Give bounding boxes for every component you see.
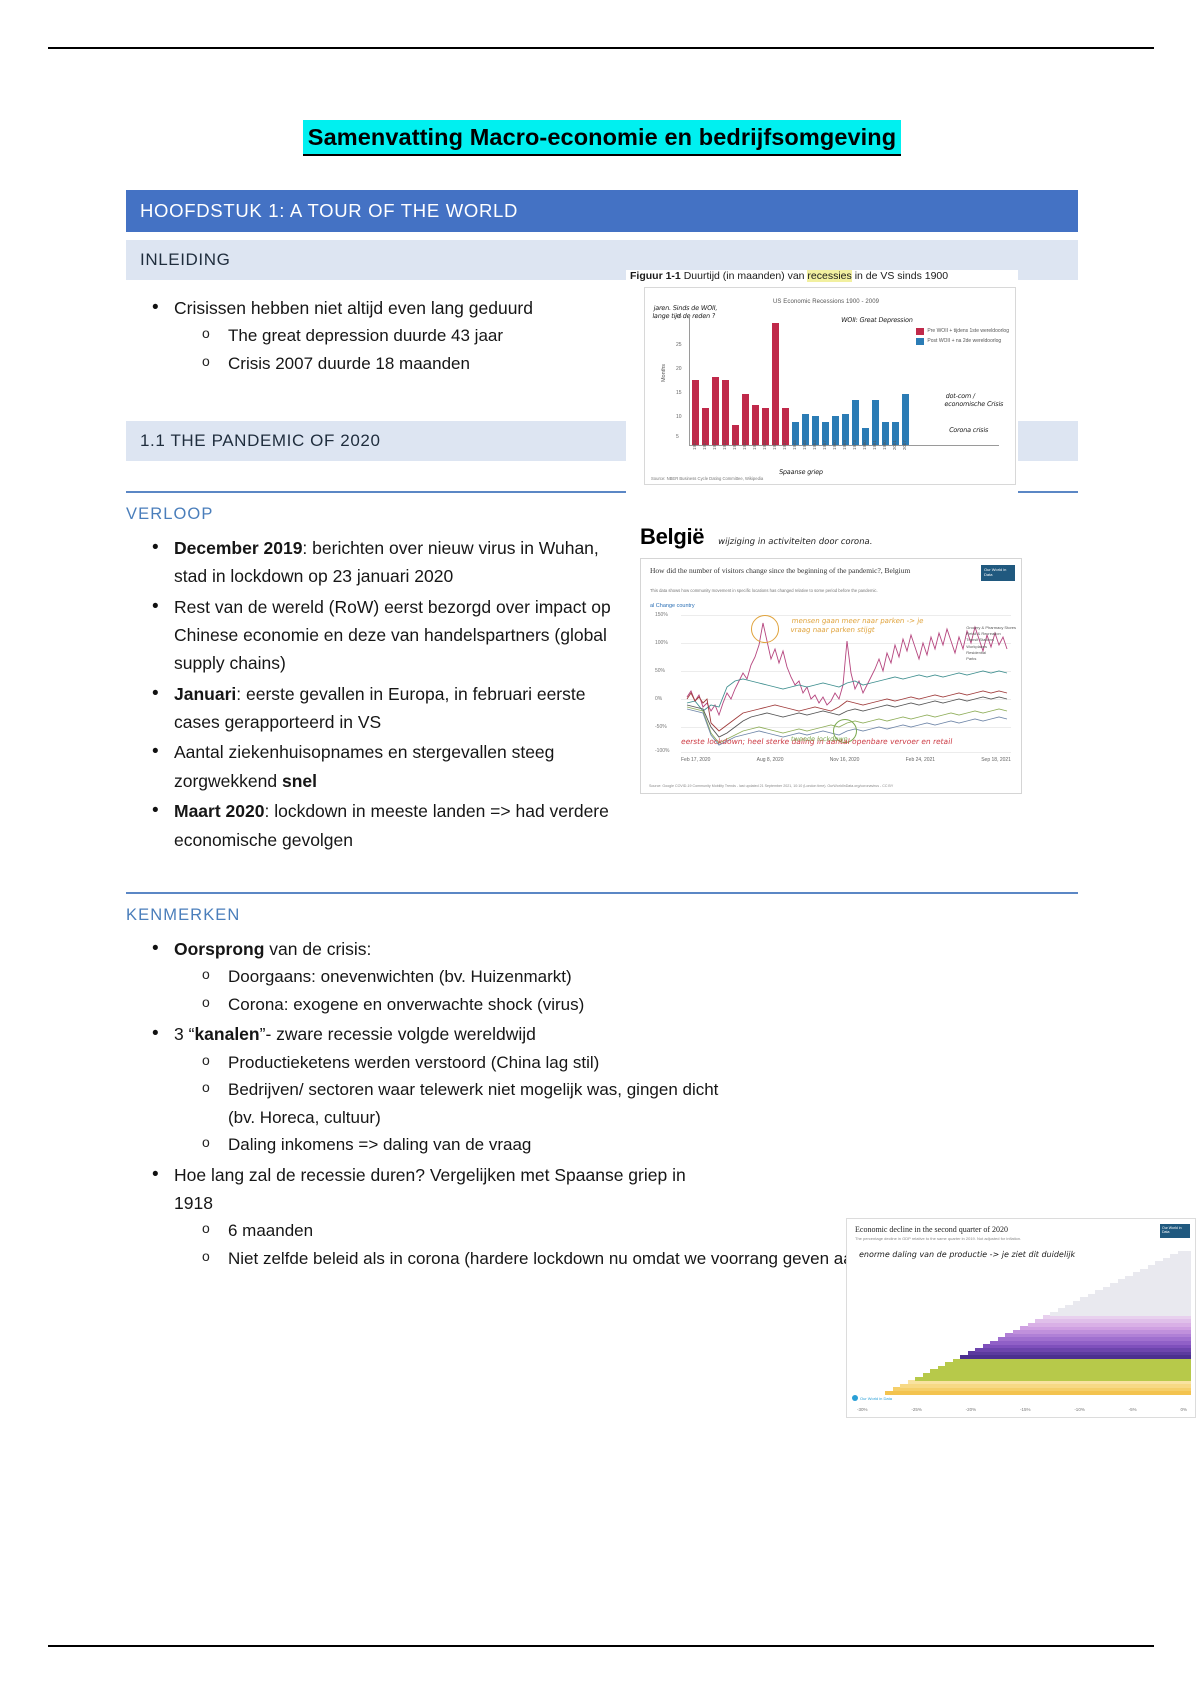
list-item: Rest van de wereld (RoW) eerst bezorgd o…	[174, 593, 626, 678]
bar	[1140, 1269, 1191, 1273]
bar	[960, 1355, 1191, 1359]
figure-3-badge: Our World in Data	[1160, 1224, 1190, 1238]
figure-2-header: België wijziging in activiteiten door co…	[632, 524, 1030, 550]
bar	[968, 1351, 1192, 1355]
figure-1-legend: Pre WOII + tijdens 1ste wereldoorlog Pos…	[916, 328, 1009, 348]
x-tick: 2001	[892, 443, 897, 450]
list-item: Productieketens werden verstoord (China …	[228, 1049, 726, 1077]
list-item: Doorgaans: onevenwichten (bv. Huizenmark…	[228, 963, 726, 991]
x-tick: -30%	[857, 1407, 868, 1412]
figure-2-badge: Our World in Data	[981, 565, 1015, 581]
bar	[938, 1366, 1192, 1370]
verloop-text-column: December 2019: berichten over nieuw viru…	[126, 524, 626, 856]
inleiding-text-column: Crisissen hebben niet altijd even lang g…	[126, 284, 626, 379]
figure-2-y-tick: 50%	[655, 668, 665, 674]
bar	[915, 1377, 1191, 1381]
document-page: Samenvatting Macro-economie en bedrijfso…	[0, 0, 1200, 1700]
x-tick: Feb 17, 2020	[681, 757, 710, 763]
bar	[692, 380, 699, 445]
figure-1-y-tick: 10	[676, 414, 682, 420]
bar	[1125, 1276, 1191, 1280]
list-item: Aantal ziekenhuisopnames en stergevallen…	[174, 738, 626, 795]
x-tick: 1913	[722, 443, 727, 450]
bullet-text: van de crisis:	[264, 939, 371, 959]
bar	[923, 1373, 1192, 1377]
list-item: Bedrijven/ sectoren waar telewerk niet m…	[228, 1076, 726, 1131]
bullet-text: Aantal ziekenhuisopnames en stergevallen…	[174, 742, 554, 790]
figure-1-y-tick: 15	[676, 390, 682, 396]
figure-1-annotation-4: Corona crisis	[948, 426, 1009, 434]
figure-3-bars	[853, 1245, 1191, 1395]
figure-2-legend: Grocery & Pharmacy Stores Retail & Recre…	[966, 625, 1016, 662]
list-item: Daling inkomens => daling van de vraag	[228, 1131, 726, 1159]
figure-2-y-tick: -100%	[655, 748, 669, 754]
bar	[945, 1362, 1191, 1366]
list-item: Hoe lang zal de recessie duren? Vergelij…	[174, 1161, 726, 1273]
bar	[983, 1344, 1192, 1348]
list-item: The great depression duurde 43 jaar	[228, 322, 626, 350]
figure-3-title: Economic decline in the second quarter o…	[855, 1225, 1008, 1234]
bar	[712, 377, 719, 445]
bar	[975, 1348, 1191, 1352]
bullet-bold: December 2019	[174, 538, 302, 558]
bullet-text: ”- zware recessie volgde wereldwijd	[260, 1024, 536, 1044]
figure-1-y-tick: 45	[676, 314, 682, 320]
list-item: Crisis 2007 duurde 18 maanden	[228, 350, 626, 378]
bullet-text: Hoe lang zal de recessie duren? Vergelij…	[174, 1165, 686, 1213]
list-item: 6 maanden	[228, 1217, 726, 1245]
figure-1-chart-title: US Economic Recessions 1900 - 2009	[773, 299, 879, 305]
x-tick: -20%	[966, 1407, 977, 1412]
figure-2-subtitle: How did the number of visitors change si…	[650, 566, 950, 576]
bar	[1058, 1308, 1192, 1312]
list-item: Crisissen hebben niet altijd even lang g…	[174, 294, 626, 377]
bar	[930, 1369, 1191, 1373]
bar	[1178, 1251, 1192, 1255]
bar	[872, 400, 879, 445]
legend-label: Pre WOII + tijdens 1ste wereldoorlog	[927, 328, 1009, 334]
figure-2-plot-box: Our World in Data How did the number of …	[640, 558, 1022, 794]
legend-swatch-blue	[916, 338, 924, 345]
bullet-text: Crisissen hebben niet altijd even lang g…	[174, 298, 533, 318]
bar	[1088, 1294, 1192, 1298]
figure-2-y-tick: 150%	[655, 612, 668, 618]
figure-2-y-tick: 0%	[655, 696, 662, 702]
figure-1-y-tick: 20	[676, 366, 682, 372]
bar	[1043, 1315, 1192, 1319]
x-tick: 2007	[902, 443, 907, 450]
x-tick: 1926	[762, 443, 767, 450]
brand-label: Our World in Data	[860, 1396, 892, 1401]
x-tick: 1945	[792, 443, 797, 450]
legend-swatch-red	[916, 328, 924, 335]
figure-3-brand: Our World in Data	[852, 1395, 892, 1401]
figure-recession-duration: Figuur 1-1 Duurtijd (in maanden) van rec…	[626, 270, 1018, 500]
bar	[1050, 1312, 1191, 1316]
bar	[902, 394, 909, 445]
bar	[990, 1341, 1191, 1345]
bar	[1163, 1258, 1192, 1262]
x-tick: 0%	[1180, 1407, 1187, 1412]
x-tick: 1910	[712, 443, 717, 450]
figure-2-plot-area: 150% 100% 50% 0% -50% -100%	[681, 615, 1011, 753]
figure-1-x-labels: 1902190719101913191819201923192619291937…	[692, 448, 998, 455]
list-item: 3 “kanalen”- zware recessie volgde werel…	[174, 1020, 726, 1158]
bullet-text: Rest van de wereld (RoW) eerst bezorgd o…	[174, 597, 611, 674]
x-tick: 1990	[882, 443, 887, 450]
figure-2-source: Source: Google COVID-19 Community Mobili…	[649, 784, 979, 789]
figure-1-source: Source: NBER Business Cycle Dating Commi…	[651, 476, 763, 481]
x-tick: 1981	[872, 443, 877, 450]
brand-dot-icon	[852, 1395, 858, 1401]
heading-kenmerken: KENMERKEN	[126, 894, 1078, 925]
x-tick: 1907	[702, 443, 707, 450]
figure-1-y-axis	[689, 318, 690, 446]
bullet-bold: kanalen	[194, 1024, 259, 1044]
bullet-text: : eerste gevallen in Europa, in februari…	[174, 684, 585, 732]
bar	[742, 394, 749, 445]
x-tick: 1923	[752, 443, 757, 450]
inleiding-bullet-list: Crisissen hebben niet altijd even lang g…	[126, 294, 626, 377]
series-grocery	[687, 671, 1007, 711]
bar	[1005, 1333, 1191, 1337]
bar	[1170, 1254, 1191, 1258]
bullet-bold: Januari	[174, 684, 236, 704]
x-tick: 1929	[772, 443, 777, 450]
kenmerken-text-column: Oorsprong van de crisis: Doorgaans: onev…	[126, 925, 726, 1275]
bar	[752, 405, 759, 445]
figure-2-y-tick: -50%	[655, 724, 667, 730]
kenmerken-sub-list-2: Productieketens werden verstoord (China …	[174, 1049, 726, 1159]
bar	[1118, 1279, 1192, 1283]
header-rule	[48, 47, 1154, 49]
bar	[1028, 1323, 1192, 1327]
x-tick: 1969	[842, 443, 847, 450]
figure-1-caption-after: in de VS sinds 1900	[852, 270, 948, 282]
x-tick: Sep 18, 2021	[981, 757, 1011, 763]
kenmerken-row: Oorsprong van de crisis: Doorgaans: onev…	[126, 925, 1078, 1275]
figure-economic-decline: Our World in Data Economic decline in th…	[846, 1218, 1196, 1418]
figure-2-x-ticks: Feb 17, 2020 Aug 8, 2020 Nov 16, 2020 Fe…	[681, 757, 1011, 763]
x-tick: Aug 8, 2020	[757, 757, 784, 763]
x-tick: -10%	[1074, 1407, 1085, 1412]
x-tick: 1918	[732, 443, 737, 450]
bar	[1103, 1287, 1192, 1291]
figure-1-caption: Figuur 1-1 Duurtijd (in maanden) van rec…	[626, 270, 1018, 282]
bar	[1133, 1272, 1192, 1276]
list-item: Januari: eerste gevallen in Europa, in f…	[174, 680, 626, 737]
figure-belgium-visitors: België wijziging in activiteiten door co…	[632, 524, 1030, 814]
x-tick: 1973	[852, 443, 857, 450]
document-content: Samenvatting Macro-economie en bedrijfso…	[126, 120, 1078, 1274]
legend-label: Post WOII + na 2de wereldoorlog	[927, 338, 1001, 344]
bullet-bold: Maart 2020	[174, 801, 264, 821]
inleiding-sub-list: The great depression duurde 43 jaar Cris…	[174, 322, 626, 377]
legend-entry: Post WOII + na 2de wereldoorlog	[916, 338, 1009, 345]
figure-2-title-annotation: wijziging in activiteiten door corona.	[717, 537, 873, 547]
figure-2-title: België	[640, 524, 704, 550]
bar	[722, 380, 729, 445]
bar	[852, 400, 859, 445]
bar	[1110, 1283, 1191, 1287]
page-title: Samenvatting Macro-economie en bedrijfso…	[303, 120, 901, 156]
bar	[1080, 1297, 1191, 1301]
bar	[893, 1387, 1192, 1391]
list-item: Oorsprong van de crisis: Doorgaans: onev…	[174, 935, 726, 1018]
figure-3-subtitle: The percentage decline in GDP relative t…	[855, 1236, 1105, 1241]
figure-1-y-tick: 25	[676, 342, 682, 348]
footer-rule	[48, 1645, 1154, 1647]
figure-2-y-tick: 100%	[655, 640, 668, 646]
figure-1-caption-before: Duurtijd (in maanden) van	[684, 270, 808, 282]
bar	[1155, 1261, 1191, 1265]
bar	[998, 1337, 1192, 1341]
list-item: December 2019: berichten over nieuw viru…	[174, 534, 626, 591]
figure-1-plot-box: jaren. Sinds de WOII, lange tijd de rede…	[644, 287, 1016, 485]
x-tick: 1920	[742, 443, 747, 450]
verloop-bullet-list: December 2019: berichten over nieuw viru…	[126, 534, 626, 854]
x-tick: 1980	[862, 443, 867, 450]
figure-1-y-tick: 5	[676, 434, 679, 440]
kenmerken-heading-block: KENMERKEN	[126, 892, 1078, 925]
inleiding-row: Crisissen hebben niet altijd even lang g…	[126, 284, 1078, 379]
x-tick: 1902	[692, 443, 697, 450]
legend-label: Parks	[966, 656, 1016, 662]
x-tick: 1957	[822, 443, 827, 450]
bar	[908, 1380, 1192, 1384]
x-tick: 1937	[782, 443, 787, 450]
bar	[1035, 1319, 1191, 1323]
figure-2-circle-annotation	[751, 615, 779, 643]
x-tick: 1960	[832, 443, 837, 450]
x-tick: -15%	[1020, 1407, 1031, 1412]
legend-entry: Pre WOII + tijdens 1ste wereldoorlog	[916, 328, 1009, 335]
x-tick: Feb 24, 2021	[906, 757, 935, 763]
x-tick: 1953	[812, 443, 817, 450]
document-title-wrapper: Samenvatting Macro-economie en bedrijfso…	[126, 120, 1078, 156]
figure-2-annotation-green: tweede lockdown	[790, 735, 848, 743]
figure-2-annotation-orange: mensen gaan meer naar parken -> je vraag…	[790, 617, 943, 635]
bar	[953, 1359, 1192, 1363]
bullet-bold-tail: snel	[282, 771, 317, 791]
bar	[1065, 1305, 1191, 1309]
list-item: Maart 2020: lockdown in meeste landen =>…	[174, 797, 626, 854]
figure-1-y-label: Months	[661, 364, 667, 382]
figure-3-x-ticks: -30% -25% -20% -15% -10% -5% 0%	[857, 1407, 1187, 1412]
figure-1-caption-highlight: recessies	[807, 270, 851, 282]
bullet-prefix: 3 “	[174, 1024, 194, 1044]
bar	[1073, 1301, 1192, 1305]
bar	[885, 1391, 1191, 1395]
x-tick: -5%	[1129, 1407, 1137, 1412]
verloop-row: December 2019: berichten over nieuw viru…	[126, 524, 1078, 856]
bullet-bold: Oorsprong	[174, 939, 264, 959]
figure-2-axis-note: al Change country	[650, 603, 695, 609]
figure-1-annotation-3: dot-com / economische Crisis	[944, 392, 1011, 408]
list-item: Corona: exogene en onverwachte shock (vi…	[228, 991, 726, 1019]
bar	[772, 323, 779, 444]
kenmerken-bullet-list: Oorsprong van de crisis: Doorgaans: onev…	[126, 935, 726, 1273]
x-tick: 1948	[802, 443, 807, 450]
kenmerken-sub-list-1: Doorgaans: onevenwichten (bv. Huizenmark…	[174, 963, 726, 1018]
figure-2-subtitle-small: This data shows how community movement i…	[650, 588, 1000, 593]
x-tick: Nov 16, 2020	[830, 757, 860, 763]
bar	[1148, 1265, 1192, 1269]
figure-1-label: Figuur 1-1	[630, 270, 681, 282]
bar	[1013, 1330, 1192, 1334]
bar	[1020, 1326, 1191, 1330]
x-tick: -25%	[911, 1407, 922, 1412]
bar	[1095, 1290, 1191, 1294]
figure-1-annotation-xaxis: Spaanse griep	[778, 468, 823, 476]
chapter-banner: HOOFDSTUK 1: A TOUR OF THE WORLD	[126, 190, 1078, 232]
bar	[900, 1384, 1191, 1388]
kenmerken-sub-list-3: 6 maanden Niet zelfde beleid als in coro…	[174, 1217, 726, 1272]
